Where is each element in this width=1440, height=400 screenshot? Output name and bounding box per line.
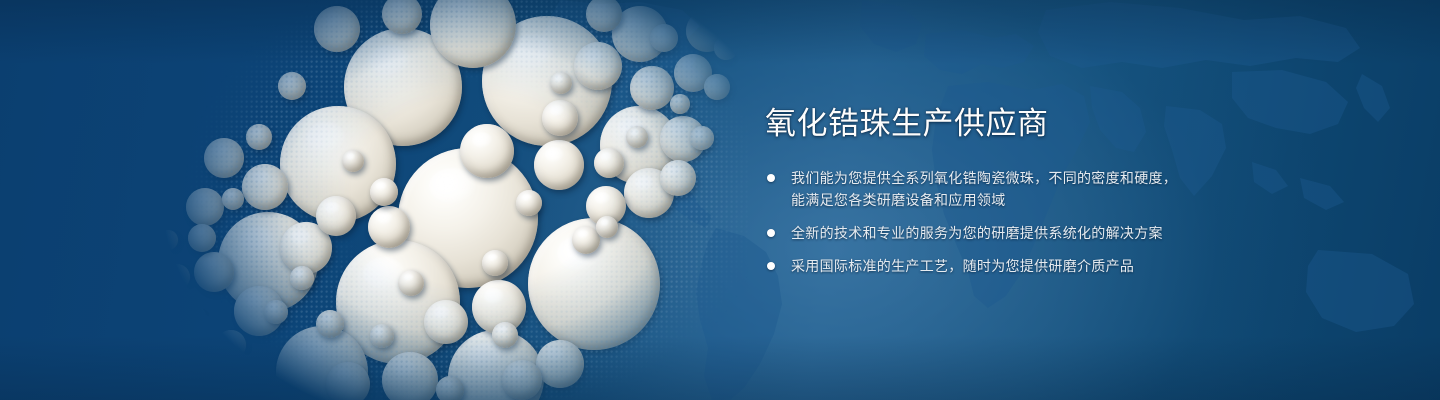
banner-content: 氧化锆珠生产供应商 我们能为您提供全系列氧化锆陶瓷微珠，不同的密度和硬度， 能满… — [765, 108, 1265, 277]
beads-cluster — [130, 0, 750, 400]
hero-banner: 氧化锆珠生产供应商 我们能为您提供全系列氧化锆陶瓷微珠，不同的密度和硬度， 能满… — [0, 0, 1440, 400]
bullet-text-line: 能满足您各类研磨设备和应用领域 — [791, 189, 1265, 211]
bullet-dot-icon — [767, 174, 775, 182]
bullet-text-line: 我们能为您提供全系列氧化锆陶瓷微珠，不同的密度和硬度， — [791, 167, 1265, 189]
bullet-dot-icon — [767, 229, 775, 237]
bullet-dot-icon — [767, 262, 775, 270]
banner-headline: 氧化锆珠生产供应商 — [765, 108, 1265, 141]
banner-feature-list: 我们能为您提供全系列氧化锆陶瓷微珠，不同的密度和硬度， 能满足您各类研磨设备和应… — [765, 167, 1265, 277]
list-item: 采用国际标准的生产工艺，随时为您提供研磨介质产品 — [765, 255, 1265, 277]
zirconia-beads-photo — [130, 0, 750, 400]
list-item: 我们能为您提供全系列氧化锆陶瓷微珠，不同的密度和硬度， 能满足您各类研磨设备和应… — [765, 167, 1265, 211]
bullet-text-line: 采用国际标准的生产工艺，随时为您提供研磨介质产品 — [791, 255, 1265, 277]
list-item: 全新的技术和专业的服务为您的研磨提供系统化的解决方案 — [765, 222, 1265, 244]
bullet-text-line: 全新的技术和专业的服务为您的研磨提供系统化的解决方案 — [791, 222, 1265, 244]
